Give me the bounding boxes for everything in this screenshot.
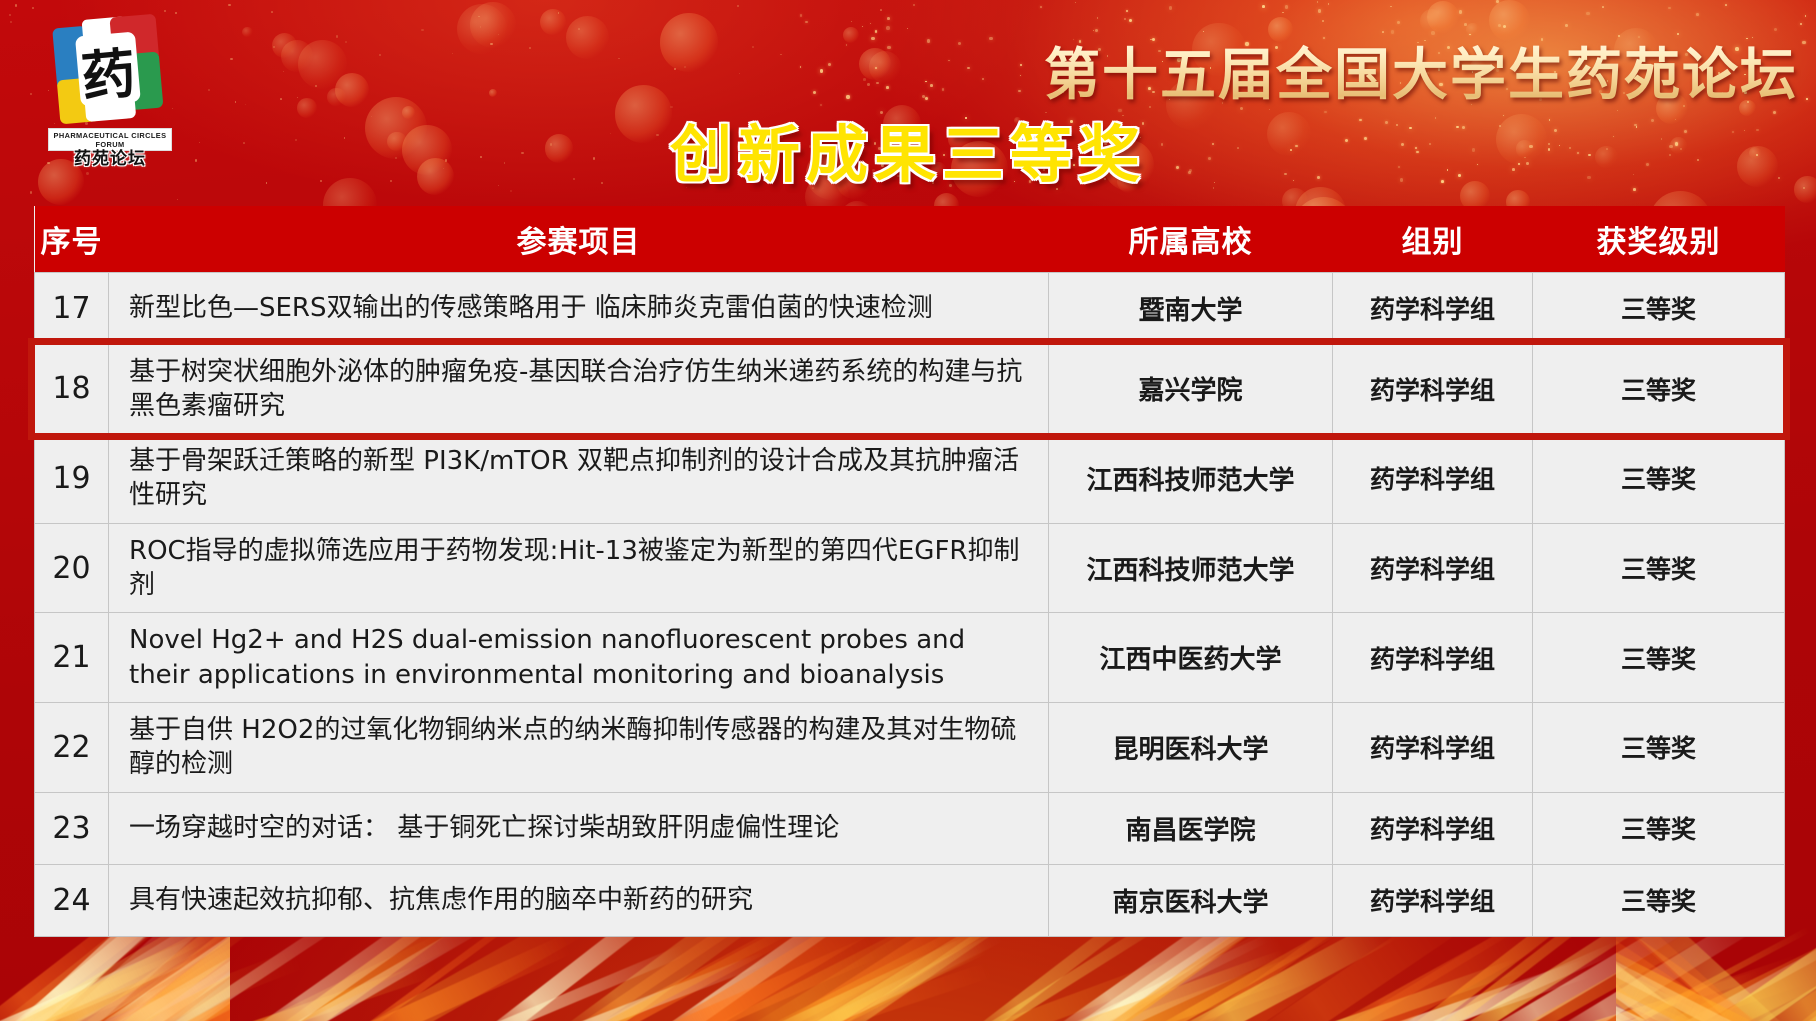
forum-title: 第十五届全国大学生药苑论坛 <box>1044 30 1798 111</box>
cell-university: 南京医科大学 <box>1049 864 1333 936</box>
award-slide: 药 PHARMACEUTICAL CIRCLES FORUM 药苑论坛 第十五届… <box>0 0 1816 1021</box>
cell-group: 药学科学组 <box>1333 613 1533 703</box>
awards-table: 序号 参赛项目 所属高校 组别 获奖级别 17新型比色—SERS双输出的传感策略… <box>34 206 1785 937</box>
cell-project: 具有快速起效抗抑郁、抗焦虑作用的脑卒中新药的研究 <box>109 864 1049 936</box>
cell-index: 24 <box>35 864 109 936</box>
table-body: 17新型比色—SERS双输出的传感策略用于 临床肺炎克雷伯菌的快速检测暨南大学药… <box>35 272 1785 936</box>
award-title: 创新成果三等奖 <box>0 104 1816 194</box>
cell-level: 三等奖 <box>1533 272 1785 344</box>
table-row[interactable]: 23一场穿越时空的对话： 基于铜死亡探讨柴胡致肝阴虚偏性理论南昌医学院药学科学组… <box>35 792 1785 864</box>
cell-project: 新型比色—SERS双输出的传感策略用于 临床肺炎克雷伯菌的快速检测 <box>109 272 1049 344</box>
cell-group: 药学科学组 <box>1333 864 1533 936</box>
cell-index: 22 <box>35 703 109 793</box>
awards-table-wrapper: 序号 参赛项目 所属高校 组别 获奖级别 17新型比色—SERS双输出的传感策略… <box>34 206 1784 937</box>
cell-level: 三等奖 <box>1533 864 1785 936</box>
table-row[interactable]: 22基于自供 H2O2的过氧化物铜纳米点的纳米酶抑制传感器的构建及其对生物硫醇的… <box>35 703 1785 793</box>
cell-index: 20 <box>35 523 109 613</box>
cell-university: 嘉兴学院 <box>1049 344 1333 434</box>
cell-university: 江西中医药大学 <box>1049 613 1333 703</box>
table-row[interactable]: 24具有快速起效抗抑郁、抗焦虑作用的脑卒中新药的研究南京医科大学药学科学组三等奖 <box>35 864 1785 936</box>
cell-group: 药学科学组 <box>1333 344 1533 434</box>
table-header: 序号 参赛项目 所属高校 组别 获奖级别 <box>35 206 1785 272</box>
cell-level: 三等奖 <box>1533 523 1785 613</box>
table-row[interactable]: 21Novel Hg2+ and H2S dual-emission nanof… <box>35 613 1785 703</box>
cell-project: 一场穿越时空的对话： 基于铜死亡探讨柴胡致肝阴虚偏性理论 <box>109 792 1049 864</box>
cell-university: 昆明医科大学 <box>1049 703 1333 793</box>
cell-university: 暨南大学 <box>1049 272 1333 344</box>
cell-level: 三等奖 <box>1533 613 1785 703</box>
cell-project: Novel Hg2+ and H2S dual-emission nanoflu… <box>109 613 1049 703</box>
cell-level: 三等奖 <box>1533 703 1785 793</box>
cell-group: 药学科学组 <box>1333 523 1533 613</box>
cell-index: 23 <box>35 792 109 864</box>
table-row[interactable]: 19基于骨架跃迁策略的新型 PI3K/mTOR 双靶点抑制剂的设计合成及其抗肿瘤… <box>35 434 1785 524</box>
cell-group: 药学科学组 <box>1333 272 1533 344</box>
cell-project: 基于骨架跃迁策略的新型 PI3K/mTOR 双靶点抑制剂的设计合成及其抗肿瘤活性… <box>109 434 1049 524</box>
table-row[interactable]: 18基于树突状细胞外泌体的肿瘤免疫-基因联合治疗仿生纳米递药系统的构建与抗黑色素… <box>35 344 1785 434</box>
column-header-project: 参赛项目 <box>109 206 1049 272</box>
cell-project: 基于自供 H2O2的过氧化物铜纳米点的纳米酶抑制传感器的构建及其对生物硫醇的检测 <box>109 703 1049 793</box>
table-header-row: 序号 参赛项目 所属高校 组别 获奖级别 <box>35 206 1785 272</box>
column-header-level: 获奖级别 <box>1533 206 1785 272</box>
cell-index: 18 <box>35 344 109 434</box>
cell-group: 药学科学组 <box>1333 792 1533 864</box>
table-row[interactable]: 20ROC指导的虚拟筛选应用于药物发现:Hit-13被鉴定为新型的第四代EGFR… <box>35 523 1785 613</box>
cell-level: 三等奖 <box>1533 344 1785 434</box>
table-row[interactable]: 17新型比色—SERS双输出的传感策略用于 临床肺炎克雷伯菌的快速检测暨南大学药… <box>35 272 1785 344</box>
cell-index: 17 <box>35 272 109 344</box>
cell-project: 基于树突状细胞外泌体的肿瘤免疫-基因联合治疗仿生纳米递药系统的构建与抗黑色素瘤研… <box>109 344 1049 434</box>
cell-group: 药学科学组 <box>1333 434 1533 524</box>
cell-university: 南昌医学院 <box>1049 792 1333 864</box>
column-header-index: 序号 <box>35 206 109 272</box>
cell-index: 21 <box>35 613 109 703</box>
cell-level: 三等奖 <box>1533 792 1785 864</box>
cell-university: 江西科技师范大学 <box>1049 523 1333 613</box>
cell-university: 江西科技师范大学 <box>1049 434 1333 524</box>
cell-group: 药学科学组 <box>1333 703 1533 793</box>
cell-level: 三等奖 <box>1533 434 1785 524</box>
column-header-group: 组别 <box>1333 206 1533 272</box>
cell-index: 19 <box>35 434 109 524</box>
column-header-university: 所属高校 <box>1049 206 1333 272</box>
cell-project: ROC指导的虚拟筛选应用于药物发现:Hit-13被鉴定为新型的第四代EGFR抑制… <box>109 523 1049 613</box>
